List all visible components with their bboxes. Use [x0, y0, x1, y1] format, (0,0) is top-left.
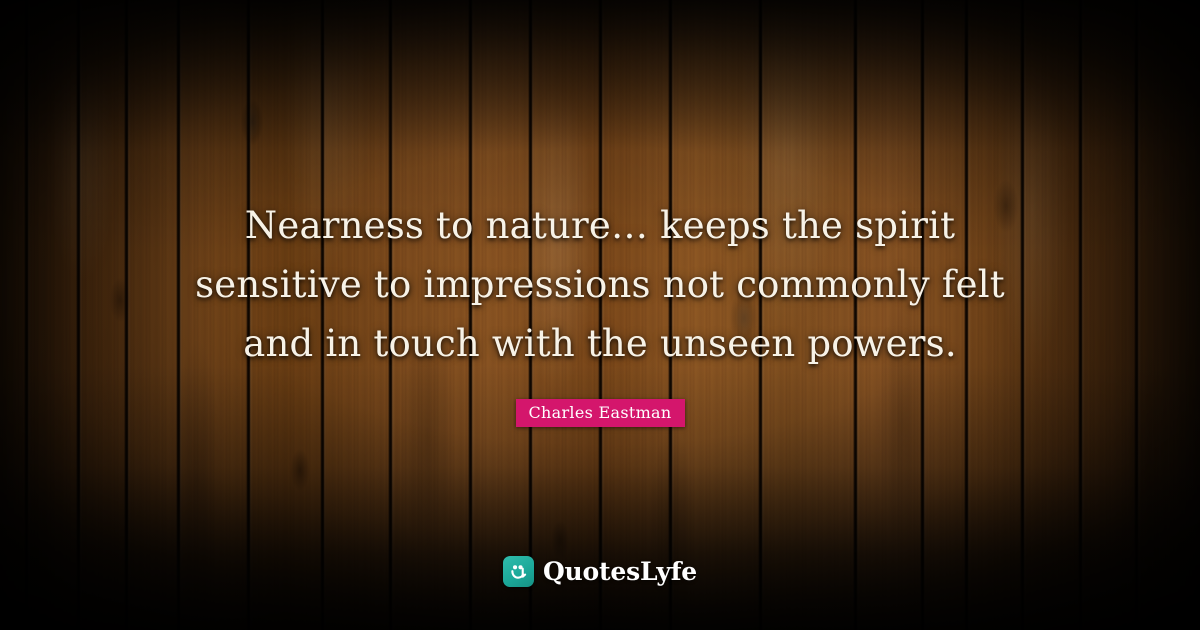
content-layer: Nearness to nature… keeps the spirit sen…: [0, 0, 1200, 630]
quote-line-1: Nearness to nature… keeps the spirit: [0, 196, 1200, 255]
author-name-badge: Charles Eastman: [516, 399, 685, 427]
quote-marks-icon: [503, 556, 534, 587]
brand-watermark: QuotesLyfe: [0, 556, 1200, 587]
brand-name: QuotesLyfe: [543, 558, 697, 585]
author-attribution: Charles Eastman: [0, 399, 1200, 427]
quote-line-2: sensitive to impressions not commonly fe…: [0, 255, 1200, 314]
quote-line-3: and in touch with the unseen powers.: [0, 314, 1200, 373]
quote-card: Nearness to nature… keeps the spirit sen…: [0, 0, 1200, 630]
quote-text-block: Nearness to nature… keeps the spirit sen…: [0, 196, 1200, 373]
